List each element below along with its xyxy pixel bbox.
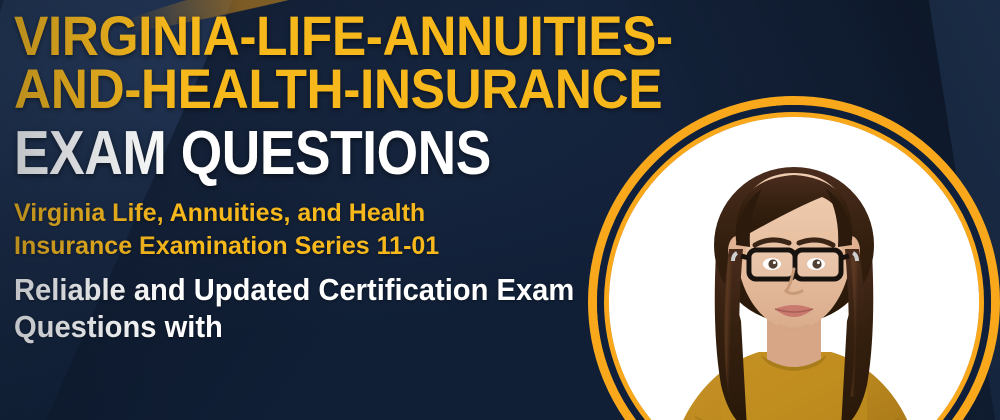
tagline-line-2: Questions with (14, 309, 578, 346)
page-title: VIRGINIA-LIFE-ANNUITIES- AND-HEALTH-INSU… (14, 0, 566, 115)
portrait-circle (588, 96, 1000, 420)
tagline-line-1: Reliable and Updated Certification Exam (14, 272, 578, 309)
promo-banner: VIRGINIA-LIFE-ANNUITIES- AND-HEALTH-INSU… (0, 0, 1000, 420)
description-line-2: Insurance Examination Series 11-01 (14, 230, 614, 263)
description-line-1: Virginia Life, Annuities, and Health (14, 197, 614, 230)
description-text: Virginia Life, Annuities, and Health Ins… (14, 197, 614, 263)
headline-line-1: VIRGINIA-LIFE-ANNUITIES- (14, 10, 566, 63)
subheadline: EXAM QUESTIONS (14, 123, 530, 185)
headline-line-2: AND-HEALTH-INSURANCE (14, 63, 566, 116)
banner-text-block: VIRGINIA-LIFE-ANNUITIES- AND-HEALTH-INSU… (14, 0, 614, 420)
tagline-text: Reliable and Updated Certification Exam … (14, 272, 578, 345)
